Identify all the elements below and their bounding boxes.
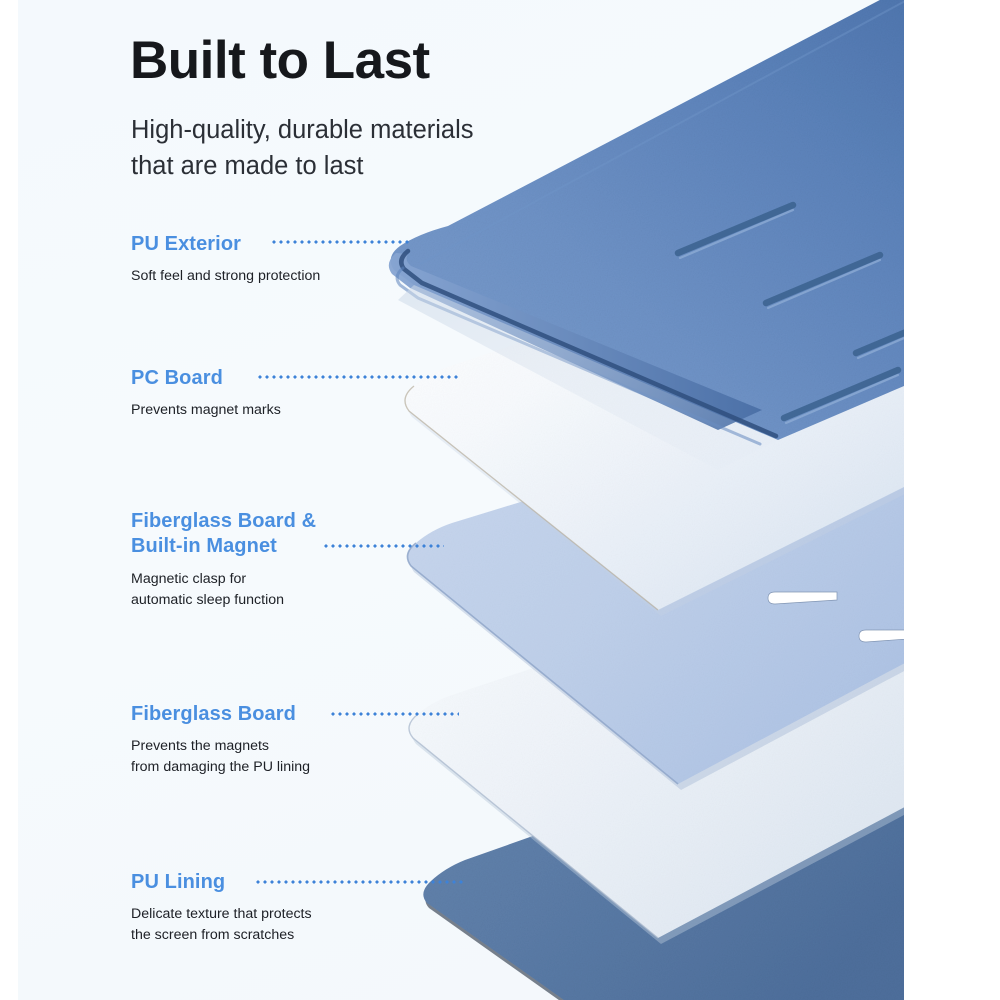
content-panel: Built to Last High-quality, durable mate… [18, 0, 904, 1000]
infographic-page: Built to Last High-quality, durable mate… [0, 0, 1000, 1000]
exploded-layer-stack-illustration [18, 0, 904, 1000]
